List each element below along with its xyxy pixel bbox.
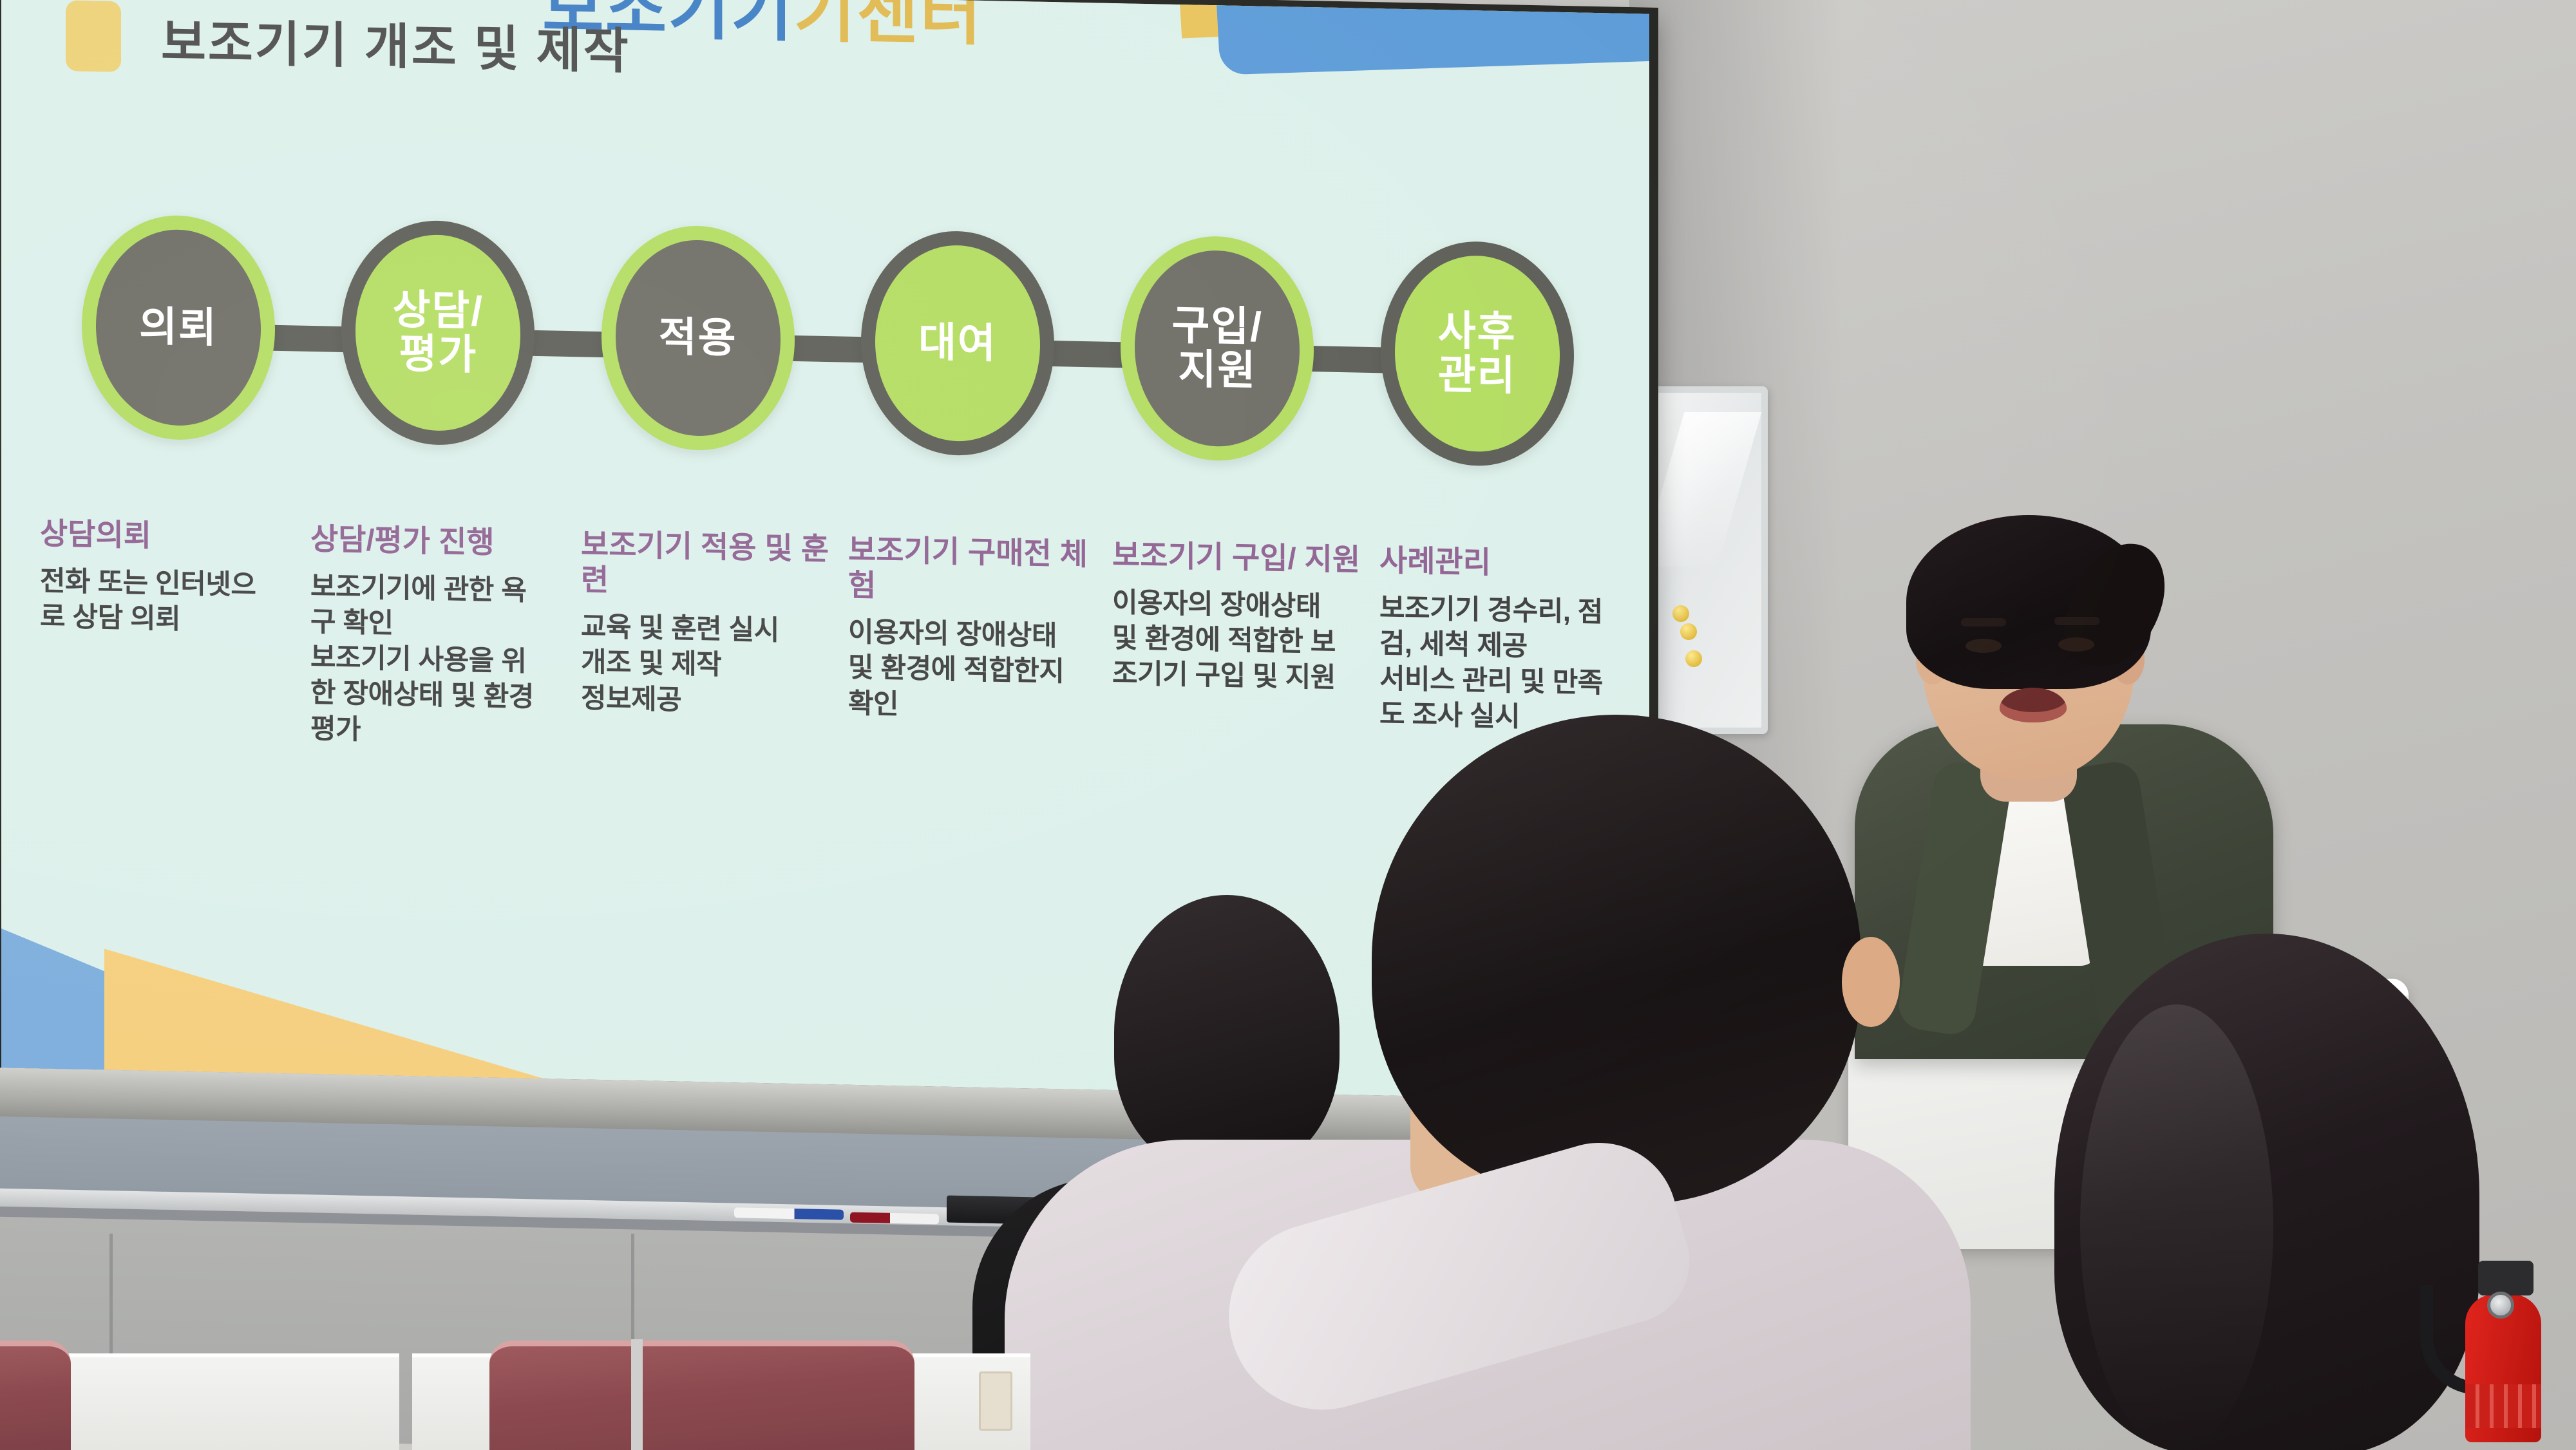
slide-title-gold-segment: 기센터 [794, 0, 983, 53]
caption-column-5: 보조기기 구입/ 지원이용자의 장애상태및 환경에 적합한 보조기기 구입 및 … [1112, 538, 1379, 769]
caption-body-line: 구 확인 [310, 605, 567, 645]
caption-body-line: 조기기 구입 및 지원 [1112, 657, 1365, 696]
red-marker-icon [850, 1212, 939, 1225]
caption-heading: 상담/평가 진행 [310, 522, 567, 562]
slide-section-heading: 보조기기 개조 및 제작 [66, 0, 630, 82]
caption-heading: 상담의뢰 [40, 516, 296, 556]
fire-extinguisher-label-band [2465, 1384, 2541, 1428]
flow-node-3: 적용 [592, 217, 804, 460]
caption-body-line: 보조기기 경수리, 점 [1379, 591, 1616, 630]
flow-node-4: 대여 [851, 222, 1064, 465]
flow-node-circle: 대여 [861, 229, 1054, 457]
presenter-brow-right [2054, 617, 2099, 625]
whiteboard [1652, 386, 1768, 734]
wall-trim [631, 1339, 643, 1450]
flow-node-label-line: 지원 [1178, 348, 1256, 393]
caption-body-line: 로 상담 의뢰 [40, 599, 296, 639]
magnet-icon [1685, 650, 1702, 667]
caption-body-line: 확인 [848, 686, 1098, 726]
caption-body-line: 개조 및 제작 [581, 646, 834, 685]
caption-column-4: 보조기기 구매전 체험이용자의 장애상태및 환경에 적합한지확인 [848, 532, 1112, 764]
caption-column-3: 보조기기 적용 및 훈련교육 및 훈련 실시개조 및 제작정보제공 [581, 527, 848, 758]
flow-node-label-line: 구입/ [1172, 304, 1264, 350]
caption-columns: 상담의뢰전화 또는 인터넷으로 상담 의뢰상담/평가 진행보조기기에 관한 욕구… [40, 516, 1631, 774]
audience-left-head [1114, 895, 1340, 1172]
section-heading-text: 보조기기 개조 및 제작 [161, 2, 630, 82]
flow-node-circle: 상담/평가 [341, 219, 535, 447]
flow-node-label-line: 적용 [659, 315, 737, 361]
caption-body-line: 평가 [310, 712, 567, 751]
flow-node-label-line: 대여 [918, 321, 997, 366]
caption-column-1: 상담의뢰전화 또는 인터넷으로 상담 의뢰 [40, 516, 310, 748]
caption-body-line: 전화 또는 인터넷으 [40, 564, 296, 603]
slide-top-blue-band [1216, 0, 1649, 75]
flow-node-circle: 의뢰 [82, 214, 275, 442]
caption-body-line: 정보제공 [581, 681, 834, 720]
flow-node-5: 구입/지원 [1111, 227, 1323, 470]
flow-node-label-line: 관리 [1438, 353, 1517, 398]
presenter-brow-left [1961, 618, 2006, 626]
audience-right-hair-highlight [2080, 1004, 2273, 1449]
caption-body-line: 보조기기에 관한 욕 [310, 569, 567, 608]
flow-node-label-line: 사후 [1438, 309, 1517, 354]
caption-body-line: 서비스 관리 및 만족 [1379, 662, 1616, 701]
blue-marker-icon [734, 1207, 844, 1219]
classroom-photo-scene: 보조기기기센터 보조기기 개조 및 제작 의뢰상담/평가적용대여구입/지원사후관… [0, 0, 2576, 1450]
caption-body-line: 보조기기 사용을 위 [310, 641, 567, 680]
caption-body-line: 및 환경에 적합한 보 [1112, 621, 1365, 661]
caption-column-2: 상담/평가 진행보조기기에 관한 욕구 확인보조기기 사용을 위한 장애상태 및… [310, 522, 581, 753]
flow-node-2: 상담/평가 [332, 212, 544, 455]
flow-node-label-line: 상담/ [393, 288, 484, 334]
caption-body-line: 검, 세척 제공 [1379, 626, 1616, 666]
wall-outlet-icon [979, 1371, 1012, 1431]
process-flow-diagram: 의뢰상담/평가적용대여구입/지원사후관리 [59, 206, 1618, 489]
caption-body-line: 교육 및 훈련 실시 [581, 610, 834, 649]
chair [489, 1341, 914, 1450]
caption-body-line: 이용자의 장애상태 [848, 616, 1098, 655]
caption-body-line: 및 환경에 적합한지 [848, 651, 1098, 690]
presenter-eye-left [1965, 639, 2002, 653]
caption-heading: 보조기기 구입/ 지원 [1112, 538, 1365, 578]
flow-node-circle: 적용 [601, 224, 795, 452]
magnet-icon [1672, 605, 1689, 622]
chair [0, 1341, 71, 1450]
yellow-chip-icon [66, 0, 121, 72]
caption-heading: 보조기기 적용 및 훈련 [581, 527, 834, 602]
caption-heading: 사례관리 [1379, 543, 1616, 583]
fire-extinguisher-gauge-icon [2487, 1292, 2514, 1319]
flow-node-1: 의뢰 [72, 207, 285, 449]
flow-node-6: 사후관리 [1371, 232, 1584, 475]
flow-node-label-line: 평가 [399, 332, 477, 377]
fire-extinguisher-valve [2478, 1261, 2533, 1295]
flow-node-circle: 구입/지원 [1121, 234, 1314, 462]
audience-center-ear [1842, 937, 1900, 1027]
flow-node-circle: 사후관리 [1381, 240, 1574, 467]
presenter-eye-right [2058, 637, 2094, 652]
magnet-icon [1680, 623, 1697, 640]
flow-node-label-line: 의뢰 [139, 305, 218, 350]
audience-center-head [1372, 715, 1861, 1204]
caption-body-line: 한 장애상태 및 환경 [310, 676, 567, 715]
caption-body-line: 이용자의 장애상태 [1112, 585, 1365, 625]
caption-heading: 보조기기 구매전 체험 [848, 532, 1098, 608]
